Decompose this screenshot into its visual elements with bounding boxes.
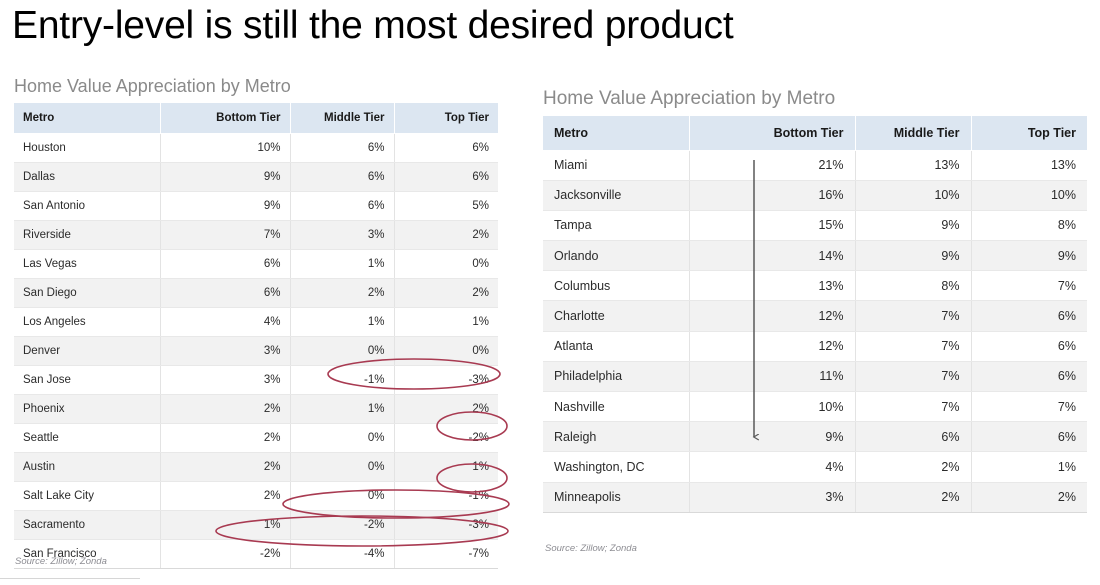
- cell-metro-name: Miami: [543, 150, 689, 180]
- cell-metro-name: Jacksonville: [543, 180, 689, 210]
- table-row[interactable]: Riverside7%3%2%: [14, 220, 498, 249]
- cell-middle-tier: 2%: [855, 482, 971, 512]
- cell-bottom-tier: 2%: [160, 452, 290, 481]
- cell-top-tier: 9%: [971, 241, 1087, 271]
- cell-top-tier: 6%: [971, 361, 1087, 391]
- table-row[interactable]: Raleigh9%6%6%: [543, 422, 1087, 452]
- cell-top-tier: -2%: [394, 423, 498, 452]
- cell-metro-name: San Diego: [14, 278, 160, 307]
- table-row[interactable]: Dallas9%6%6%: [14, 162, 498, 191]
- cell-top-tier: 2%: [394, 278, 498, 307]
- cell-metro-name: Salt Lake City: [14, 481, 160, 510]
- cell-middle-tier: 6%: [290, 162, 394, 191]
- cell-top-tier: 6%: [394, 133, 498, 162]
- cell-metro-name: Los Angeles: [14, 307, 160, 336]
- cell-top-tier: 1%: [394, 452, 498, 481]
- cell-top-tier: 6%: [971, 331, 1087, 361]
- table-header-row: Metro Bottom Tier Middle Tier Top Tier: [543, 116, 1087, 150]
- table-row[interactable]: Houston10%6%6%: [14, 133, 498, 162]
- right-table-panel: Home Value Appreciation by Metro Metro B…: [543, 88, 1087, 513]
- table-row[interactable]: Austin2%0%1%: [14, 452, 498, 481]
- column-header-top-tier[interactable]: Top Tier: [971, 116, 1087, 150]
- cell-top-tier: 2%: [394, 220, 498, 249]
- cell-top-tier: 2%: [394, 394, 498, 423]
- cell-metro-name: Charlotte: [543, 301, 689, 331]
- cell-middle-tier: 0%: [290, 336, 394, 365]
- table-row[interactable]: Charlotte12%7%6%: [543, 301, 1087, 331]
- cell-top-tier: -7%: [394, 539, 498, 568]
- cell-top-tier: 8%: [971, 210, 1087, 240]
- cell-top-tier: 5%: [394, 191, 498, 220]
- cell-middle-tier: 8%: [855, 271, 971, 301]
- cell-bottom-tier: 10%: [689, 392, 855, 422]
- cell-metro-name: Sacramento: [14, 510, 160, 539]
- cell-bottom-tier: 10%: [160, 133, 290, 162]
- cell-middle-tier: -4%: [290, 539, 394, 568]
- cell-top-tier: 13%: [971, 150, 1087, 180]
- cell-top-tier: 7%: [971, 392, 1087, 422]
- cell-metro-name: Orlando: [543, 241, 689, 271]
- left-source-note: Source: Zillow; Zonda: [15, 556, 107, 567]
- cell-top-tier: 2%: [971, 482, 1087, 512]
- cell-middle-tier: 1%: [290, 394, 394, 423]
- column-header-top-tier[interactable]: Top Tier: [394, 103, 498, 133]
- cell-top-tier: -3%: [394, 365, 498, 394]
- cell-metro-name: Denver: [14, 336, 160, 365]
- cell-middle-tier: 9%: [855, 241, 971, 271]
- cell-metro-name: Las Vegas: [14, 249, 160, 278]
- cell-top-tier: 6%: [971, 301, 1087, 331]
- cell-middle-tier: 1%: [290, 249, 394, 278]
- cell-bottom-tier: 6%: [160, 278, 290, 307]
- column-header-metro[interactable]: Metro: [14, 103, 160, 133]
- page-title: Entry-level is still the most desired pr…: [12, 4, 733, 48]
- table-row[interactable]: Los Angeles4%1%1%: [14, 307, 498, 336]
- cell-metro-name: Minneapolis: [543, 482, 689, 512]
- left-table-heading: Home Value Appreciation by Metro: [14, 76, 498, 97]
- left-table-panel: Home Value Appreciation by Metro Metro B…: [14, 76, 498, 569]
- cell-bottom-tier: 2%: [160, 481, 290, 510]
- column-header-middle-tier[interactable]: Middle Tier: [855, 116, 971, 150]
- cell-metro-name: Raleigh: [543, 422, 689, 452]
- table-row[interactable]: Miami21%13%13%: [543, 150, 1087, 180]
- cell-metro-name: Dallas: [14, 162, 160, 191]
- cell-metro-name: Tampa: [543, 210, 689, 240]
- cell-middle-tier: 2%: [290, 278, 394, 307]
- table-row[interactable]: San Diego6%2%2%: [14, 278, 498, 307]
- table-row[interactable]: Minneapolis3%2%2%: [543, 482, 1087, 512]
- column-header-metro[interactable]: Metro: [543, 116, 689, 150]
- cell-metro-name: Washington, DC: [543, 452, 689, 482]
- cell-middle-tier: 2%: [855, 452, 971, 482]
- home-value-appreciation-table-right: Metro Bottom Tier Middle Tier Top Tier M…: [543, 116, 1087, 513]
- cell-bottom-tier: 16%: [689, 180, 855, 210]
- right-table-heading: Home Value Appreciation by Metro: [543, 88, 1087, 110]
- cell-bottom-tier: -2%: [160, 539, 290, 568]
- left-table-body: Houston10%6%6%Dallas9%6%6%San Antonio9%6…: [14, 133, 498, 568]
- table-row[interactable]: Jacksonville16%10%10%: [543, 180, 1087, 210]
- cell-top-tier: 7%: [971, 271, 1087, 301]
- cell-middle-tier: 1%: [290, 307, 394, 336]
- cell-middle-tier: 9%: [855, 210, 971, 240]
- cell-middle-tier: 10%: [855, 180, 971, 210]
- left-table-header: Metro Bottom Tier Middle Tier Top Tier: [14, 103, 498, 133]
- table-row[interactable]: Las Vegas6%1%0%: [14, 249, 498, 278]
- table-row[interactable]: Philadelphia11%7%6%: [543, 361, 1087, 391]
- column-header-bottom-tier[interactable]: Bottom Tier: [160, 103, 290, 133]
- cell-middle-tier: 6%: [290, 133, 394, 162]
- cell-bottom-tier: 2%: [160, 423, 290, 452]
- table-row[interactable]: Atlanta12%7%6%: [543, 331, 1087, 361]
- cell-bottom-tier: 11%: [689, 361, 855, 391]
- cell-bottom-tier: 15%: [689, 210, 855, 240]
- cell-middle-tier: -2%: [290, 510, 394, 539]
- cell-bottom-tier: 21%: [689, 150, 855, 180]
- cell-middle-tier: 3%: [290, 220, 394, 249]
- cell-top-tier: 1%: [394, 307, 498, 336]
- cell-middle-tier: 0%: [290, 423, 394, 452]
- cell-metro-name: Riverside: [14, 220, 160, 249]
- table-header-row: Metro Bottom Tier Middle Tier Top Tier: [14, 103, 498, 133]
- cell-middle-tier: 13%: [855, 150, 971, 180]
- cell-middle-tier: 6%: [855, 422, 971, 452]
- cell-bottom-tier: 3%: [689, 482, 855, 512]
- cell-bottom-tier: 3%: [160, 365, 290, 394]
- cell-middle-tier: 7%: [855, 331, 971, 361]
- table-row[interactable]: Tampa15%9%8%: [543, 210, 1087, 240]
- cell-middle-tier: -1%: [290, 365, 394, 394]
- cell-top-tier: 6%: [971, 422, 1087, 452]
- bottom-divider: [0, 578, 140, 579]
- cell-metro-name: Atlanta: [543, 331, 689, 361]
- table-row[interactable]: Denver3%0%0%: [14, 336, 498, 365]
- cell-middle-tier: 7%: [855, 301, 971, 331]
- table-row[interactable]: Seattle2%0%-2%: [14, 423, 498, 452]
- cell-middle-tier: 7%: [855, 392, 971, 422]
- table-row[interactable]: Sacramento1%-2%-3%: [14, 510, 498, 539]
- cell-middle-tier: 6%: [290, 191, 394, 220]
- table-row[interactable]: Salt Lake City2%0%-1%: [14, 481, 498, 510]
- column-header-bottom-tier[interactable]: Bottom Tier: [689, 116, 855, 150]
- cell-top-tier: 0%: [394, 336, 498, 365]
- cell-bottom-tier: 9%: [689, 422, 855, 452]
- cell-bottom-tier: 3%: [160, 336, 290, 365]
- cell-metro-name: Philadelphia: [543, 361, 689, 391]
- table-row[interactable]: Phoenix2%1%2%: [14, 394, 498, 423]
- cell-middle-tier: 0%: [290, 481, 394, 510]
- cell-bottom-tier: 1%: [160, 510, 290, 539]
- right-source-note: Source: Zillow; Zonda: [545, 543, 637, 554]
- cell-top-tier: -1%: [394, 481, 498, 510]
- cell-bottom-tier: 9%: [160, 162, 290, 191]
- cell-bottom-tier: 14%: [689, 241, 855, 271]
- table-row[interactable]: San Jose3%-1%-3%: [14, 365, 498, 394]
- right-table-body: Miami21%13%13%Jacksonville16%10%10%Tampa…: [543, 150, 1087, 512]
- cell-middle-tier: 0%: [290, 452, 394, 481]
- cell-metro-name: Seattle: [14, 423, 160, 452]
- table-row[interactable]: Washington, DC4%2%1%: [543, 452, 1087, 482]
- cell-metro-name: San Antonio: [14, 191, 160, 220]
- cell-metro-name: Houston: [14, 133, 160, 162]
- cell-top-tier: 10%: [971, 180, 1087, 210]
- cell-metro-name: Columbus: [543, 271, 689, 301]
- table-row[interactable]: Nashville10%7%7%: [543, 392, 1087, 422]
- cell-bottom-tier: 2%: [160, 394, 290, 423]
- cell-bottom-tier: 4%: [689, 452, 855, 482]
- cell-top-tier: 6%: [394, 162, 498, 191]
- cell-bottom-tier: 13%: [689, 271, 855, 301]
- table-row[interactable]: Columbus13%8%7%: [543, 271, 1087, 301]
- cell-bottom-tier: 7%: [160, 220, 290, 249]
- cell-bottom-tier: 9%: [160, 191, 290, 220]
- home-value-appreciation-table-left: Metro Bottom Tier Middle Tier Top Tier H…: [14, 103, 498, 569]
- table-row[interactable]: Orlando14%9%9%: [543, 241, 1087, 271]
- column-header-middle-tier[interactable]: Middle Tier: [290, 103, 394, 133]
- table-row[interactable]: San Antonio9%6%5%: [14, 191, 498, 220]
- cell-bottom-tier: 6%: [160, 249, 290, 278]
- right-table-header: Metro Bottom Tier Middle Tier Top Tier: [543, 116, 1087, 150]
- cell-top-tier: -3%: [394, 510, 498, 539]
- cell-metro-name: Nashville: [543, 392, 689, 422]
- cell-bottom-tier: 12%: [689, 301, 855, 331]
- cell-metro-name: San Jose: [14, 365, 160, 394]
- cell-metro-name: Austin: [14, 452, 160, 481]
- cell-metro-name: Phoenix: [14, 394, 160, 423]
- cell-top-tier: 1%: [971, 452, 1087, 482]
- cell-top-tier: 0%: [394, 249, 498, 278]
- cell-bottom-tier: 12%: [689, 331, 855, 361]
- cell-bottom-tier: 4%: [160, 307, 290, 336]
- cell-middle-tier: 7%: [855, 361, 971, 391]
